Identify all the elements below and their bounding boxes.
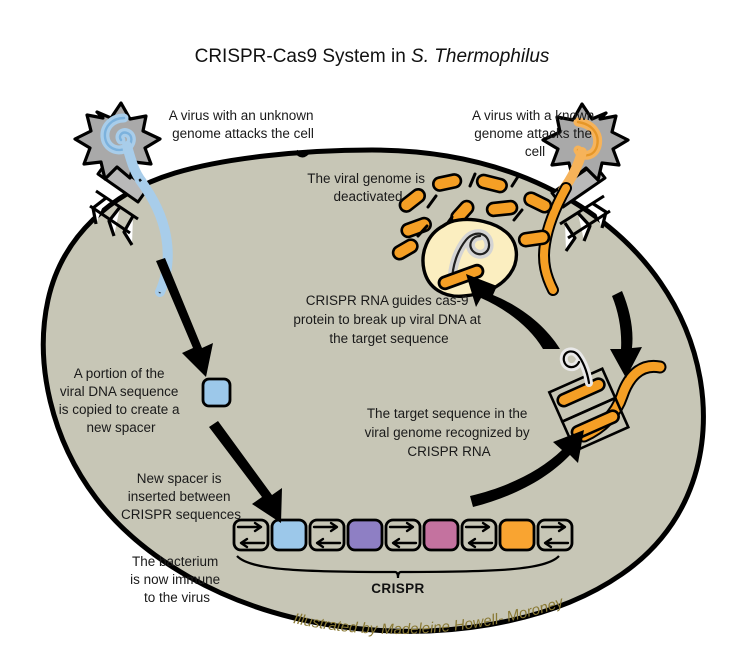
page-title-main: CRISPR-Cas9 System in <box>195 46 411 67</box>
dna-fragment <box>518 230 550 247</box>
repeat-box <box>310 520 344 550</box>
crispr-repeat-unit <box>386 520 420 550</box>
crispr-spacer-purple <box>348 520 382 550</box>
repeat-box <box>462 520 496 550</box>
crispr-repeat-unit <box>310 520 344 550</box>
label-spacer-inserted: New spacer is inserted between CRISPR se… <box>121 471 241 522</box>
copied-spacer-box <box>203 379 230 406</box>
crispr-spacer-orange <box>500 520 534 550</box>
dna-fragment <box>486 200 517 216</box>
page-title-species: S. Thermophilus <box>411 46 550 67</box>
crispr-repeat-unit <box>234 520 268 550</box>
crispr-cas9-diagram: CRISPR-Cas9 System in S. Thermophilus <box>0 0 744 667</box>
repeat-box <box>538 520 572 550</box>
crispr-array <box>234 520 572 550</box>
crispr-spacer-blue <box>272 520 306 550</box>
crispr-bracket-label: CRISPR <box>371 581 424 596</box>
crispr-repeat-unit <box>462 520 496 550</box>
repeat-box <box>234 520 268 550</box>
crispr-repeat-unit <box>538 520 572 550</box>
page-title: CRISPR-Cas9 System in S. Thermophilus <box>195 46 550 67</box>
label-immune: The bacterium is now immune to the virus <box>130 554 224 605</box>
crispr-spacer-magenta <box>424 520 458 550</box>
repeat-box <box>386 520 420 550</box>
